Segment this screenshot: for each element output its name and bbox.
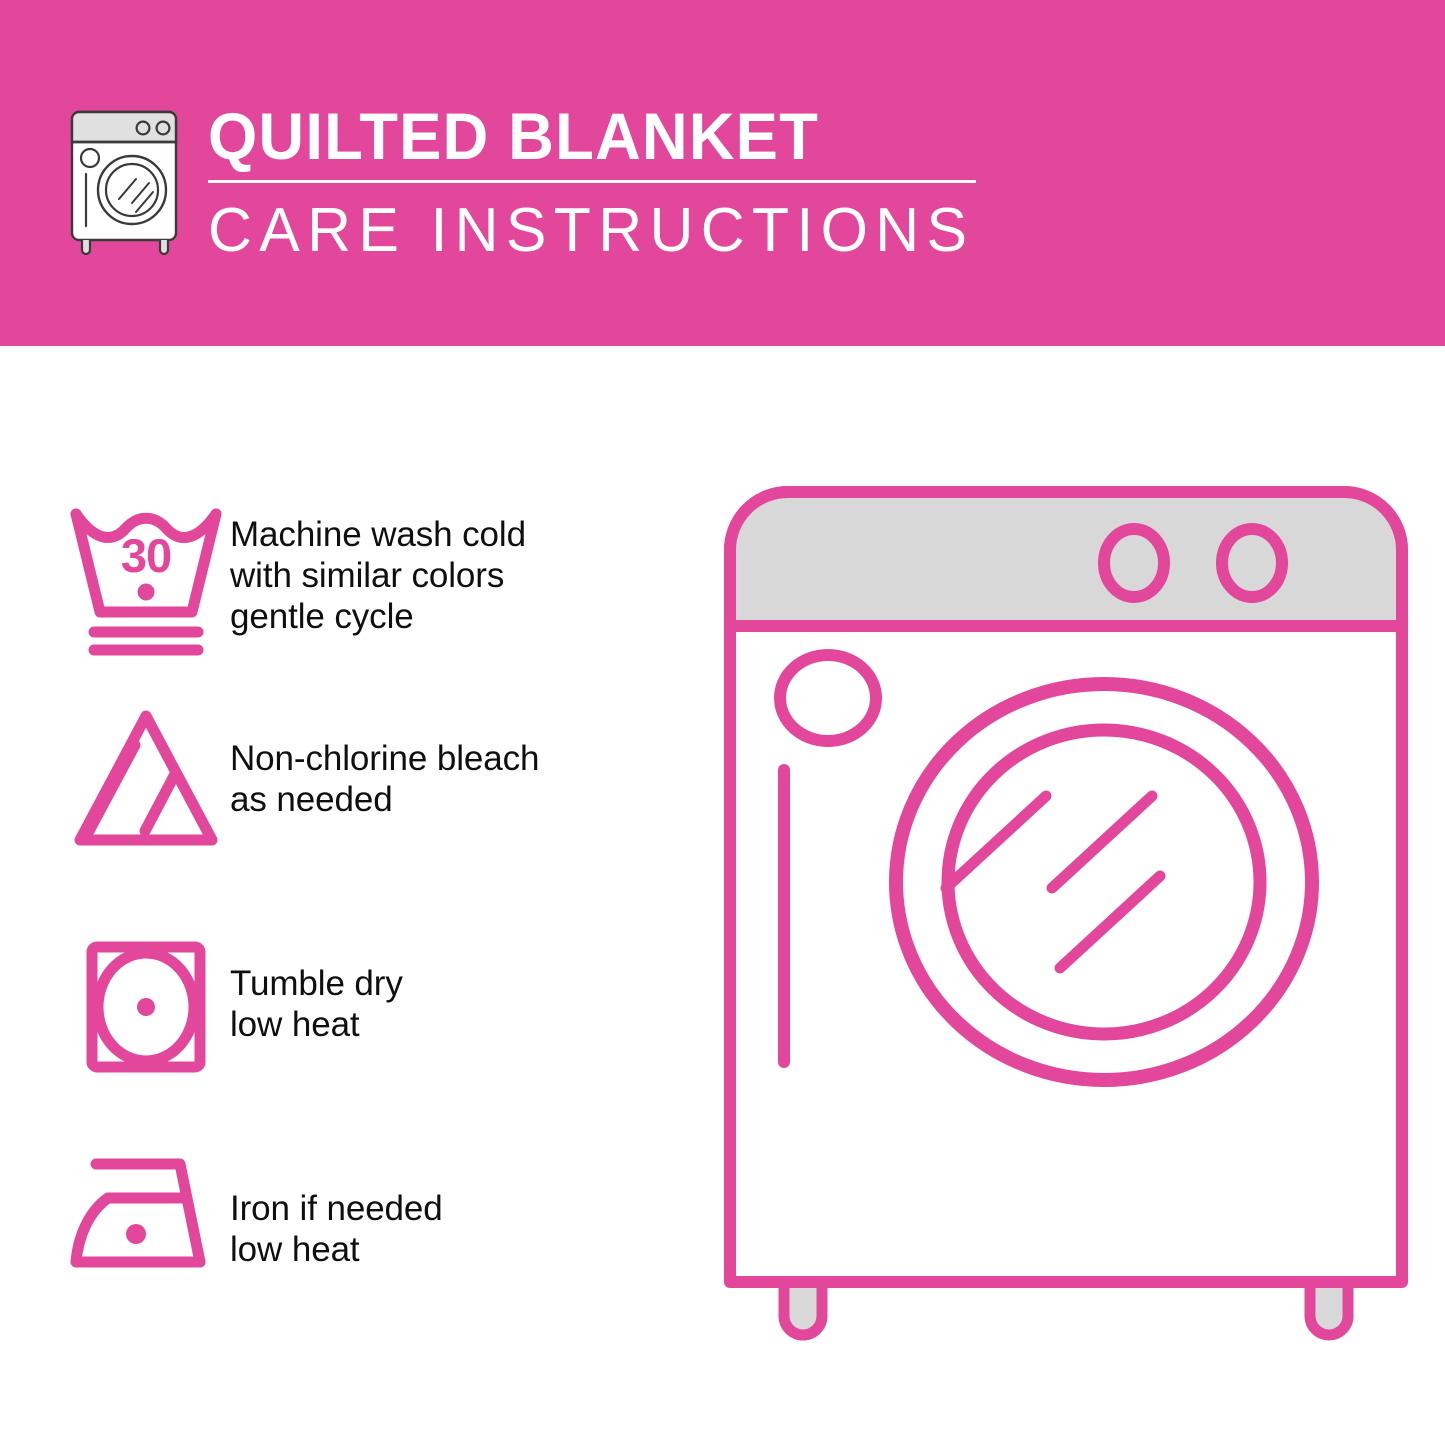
care-item-bleach: Non-chlorine bleach as needed [62,704,539,854]
page-title: QUILTED BLANKET [208,98,966,174]
washer-detergent-port [780,655,876,741]
washer-door-inner [948,730,1260,1034]
header-banner: QUILTED BLANKET CARE INSTRUCTIONS [0,0,1445,346]
care-item-tumble-dry: Tumble dry low heat [62,935,403,1079]
washer-knob-2 [1222,529,1282,597]
wash-basin-30-icon: 30 [62,492,230,660]
washing-machine-illustration [716,478,1416,1358]
care-item-iron: Iron if needed low heat [62,1150,443,1280]
care-item-label: Machine wash cold with similar colors ge… [230,492,526,637]
washer-knob-1 [1104,529,1164,597]
header-text-block: QUILTED BLANKET CARE INSTRUCTIONS [208,98,998,267]
page-subtitle: CARE INSTRUCTIONS [208,195,982,267]
tumble-dry-low-icon [62,935,230,1079]
title-divider [208,180,976,183]
non-chlorine-bleach-triangle-icon [62,704,230,854]
care-item-label: Iron if needed low heat [230,1150,443,1270]
care-item-label: Non-chlorine bleach as needed [230,704,539,820]
svg-text:30: 30 [121,529,171,582]
care-item-machine-wash: 30 Machine wash cold with similar colors… [62,492,526,660]
washing-machine-icon [64,104,186,256]
washer-control-panel [730,492,1402,626]
iron-low-heat-icon [62,1150,230,1280]
care-item-label: Tumble dry low heat [230,935,403,1045]
